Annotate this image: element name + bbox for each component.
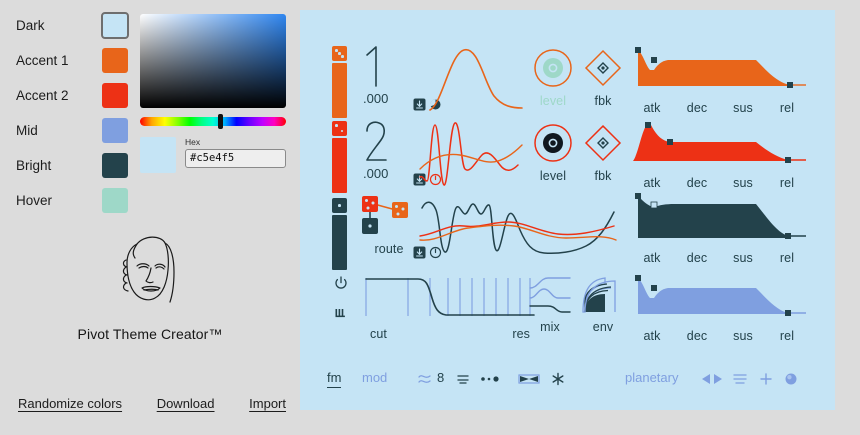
envelope-label-sus: sus <box>720 176 766 190</box>
swatch-label: Accent 1 <box>16 53 102 68</box>
envelope-label-dec: dec <box>674 101 720 115</box>
osc1-waveform[interactable] <box>428 44 524 116</box>
diamond-knob-icon[interactable] <box>583 123 623 163</box>
envelope-label-dec: dec <box>674 329 720 343</box>
route-waveform[interactable] <box>418 194 626 260</box>
footer-links: Randomize colors Download Import <box>18 396 286 411</box>
envelope-label-sus: sus <box>720 251 766 265</box>
mix-icon[interactable] <box>528 276 572 316</box>
envelope-label-rel: rel <box>766 176 808 190</box>
keyboard-icon[interactable] <box>334 306 348 320</box>
left-panel: Dark Accent 1 Accent 2 Mid Bright Hover <box>0 0 300 435</box>
swatch-label: Accent 2 <box>16 88 102 103</box>
envelope-label-atk: atk <box>630 176 674 190</box>
envelope-label-atk: atk <box>630 101 674 115</box>
download-link[interactable]: Download <box>157 396 215 411</box>
preset-name[interactable]: planetary <box>625 370 678 385</box>
filter-env-label: env <box>578 320 628 334</box>
osc2-level-knob[interactable]: level <box>528 123 578 183</box>
equals-icon[interactable] <box>455 372 471 386</box>
swatch-chip-dark[interactable] <box>102 13 128 38</box>
swatch-row-dark[interactable]: Dark <box>16 12 136 38</box>
bowtie-icon[interactable] <box>518 372 540 386</box>
osc2-envelope-labels: atk dec sus rel <box>630 176 810 190</box>
osc1-fbk-knob[interactable]: fbk <box>578 48 628 108</box>
palette-swatch-list: Dark Accent 1 Accent 2 Mid Bright Hover <box>16 12 136 222</box>
envelope-label-sus: sus <box>720 101 766 115</box>
randomize-colors-link[interactable]: Randomize colors <box>18 396 122 411</box>
osc1-level-label: level <box>528 94 578 108</box>
osc1-level-knob[interactable]: level <box>528 48 578 108</box>
osc1-fbk-label: fbk <box>578 94 628 108</box>
synth-panel: .000 level <box>300 10 835 410</box>
envelope-label-dec: dec <box>674 251 720 265</box>
hex-input[interactable]: #c5e4f5 <box>185 149 286 168</box>
route-envelope-graph[interactable] <box>630 192 808 244</box>
filter-toggles <box>334 276 348 320</box>
filter-label-cut: cut <box>370 327 387 341</box>
route-envelope[interactable]: atk dec sus rel <box>630 192 810 265</box>
color-preview-chip <box>140 137 176 173</box>
envelope-label-rel: rel <box>766 101 808 115</box>
osc2-fbk-knob[interactable]: fbk <box>578 123 628 183</box>
osc1-envelope-graph[interactable] <box>630 44 808 92</box>
swatch-label: Hover <box>16 193 102 208</box>
filter-response-graph[interactable]: cut res <box>360 274 540 341</box>
knob-icon[interactable] <box>533 123 573 163</box>
envelope-label-atk: atk <box>630 329 674 343</box>
swatch-chip-bright[interactable] <box>102 153 128 178</box>
wave-approx-icon[interactable] <box>417 372 433 386</box>
plus-icon[interactable] <box>758 372 774 386</box>
voices-count[interactable]: 8 <box>437 370 444 385</box>
dice-icon[interactable] <box>332 121 347 136</box>
env-fan-icon[interactable] <box>581 276 625 316</box>
knob-icon[interactable] <box>533 48 573 88</box>
osc2-ratio[interactable]: .000 <box>363 119 413 181</box>
synth-row-osc1: .000 level <box>300 40 835 120</box>
hex-label: Hex <box>185 137 286 147</box>
saturation-value-area[interactable] <box>140 14 286 108</box>
route-graph[interactable]: route <box>358 194 420 256</box>
power-icon[interactable] <box>334 276 348 290</box>
synth-row-route: route <box>300 192 835 272</box>
tab-fm[interactable]: fm <box>327 370 341 388</box>
envelope-label-rel: rel <box>766 251 808 265</box>
osc1-ratio-decimal: .000 <box>363 91 413 106</box>
osc2-waveform[interactable] <box>418 117 528 191</box>
swatch-row-bright[interactable]: Bright <box>16 152 136 178</box>
filter-curve[interactable] <box>360 274 538 320</box>
dots-icon[interactable] <box>480 374 500 384</box>
route-nodes-icon[interactable] <box>358 194 420 240</box>
route-level-slider[interactable] <box>332 198 347 270</box>
swatch-chip-mid[interactable] <box>102 118 128 143</box>
osc2-envelope-graph[interactable] <box>630 119 808 167</box>
brand-block: Pivot Theme Creator™ <box>0 230 300 342</box>
prev-next-arrows-icon[interactable] <box>700 372 724 386</box>
route-envelope-labels: atk dec sus rel <box>630 251 810 265</box>
import-link[interactable]: Import <box>249 396 286 411</box>
osc2-level-label: level <box>528 169 578 183</box>
hue-slider-handle[interactable] <box>218 114 223 129</box>
osc2-level-slider[interactable] <box>332 121 347 193</box>
swatch-label: Mid <box>16 123 102 138</box>
osc1-number-glyph <box>363 44 389 88</box>
filter-env[interactable]: env <box>578 276 628 334</box>
face-line-drawing-icon <box>111 230 189 320</box>
filter-envelope[interactable]: atk dec sus rel <box>630 272 810 343</box>
osc1-envelope-labels: atk dec sus rel <box>630 101 810 115</box>
color-picker: Hex #c5e4f5 <box>140 14 286 173</box>
envelope-label-rel: rel <box>766 329 808 343</box>
bottom-toolbar: fm mod 8 plane <box>300 362 835 402</box>
osc2-ratio-decimal: .000 <box>363 166 413 181</box>
picker-preview-row: Hex #c5e4f5 <box>140 137 286 173</box>
hue-slider[interactable] <box>140 117 286 126</box>
envelope-label-sus: sus <box>720 329 766 343</box>
route-label: route <box>358 242 420 256</box>
page-title: Pivot Theme Creator™ <box>0 326 300 342</box>
osc2-envelope[interactable]: atk dec sus rel <box>630 119 810 190</box>
list-menu-icon[interactable] <box>732 373 748 385</box>
osc1-ratio[interactable]: .000 <box>363 44 413 106</box>
synth-row-filter: cut res mix env <box>300 268 835 348</box>
filter-labels: cut res <box>360 327 540 341</box>
hex-field-wrap: Hex #c5e4f5 <box>185 137 286 173</box>
swatch-row-hover[interactable]: Hover <box>16 187 136 213</box>
swatch-label: Bright <box>16 158 102 173</box>
diamond-knob-icon[interactable] <box>583 48 623 88</box>
dice-icon[interactable] <box>332 198 347 213</box>
swatch-label: Dark <box>16 18 102 33</box>
swatch-chip-accent-2[interactable] <box>102 83 128 108</box>
osc2-number-glyph <box>363 119 391 163</box>
swatch-chip-hover[interactable] <box>102 188 128 213</box>
dice-icon[interactable] <box>332 46 347 61</box>
envelope-label-dec: dec <box>674 176 720 190</box>
osc2-fbk-label: fbk <box>578 169 628 183</box>
filter-mix-label: mix <box>525 320 575 334</box>
download-icon[interactable] <box>413 98 426 111</box>
envelope-label-atk: atk <box>630 251 674 265</box>
swatch-row-accent-2[interactable]: Accent 2 <box>16 82 136 108</box>
synth-row-osc2: .000 level <box>300 115 835 195</box>
scroll-gutter <box>835 10 860 410</box>
filter-envelope-labels: atk dec sus rel <box>630 329 810 343</box>
circle-filled-icon[interactable] <box>783 372 799 386</box>
osc1-level-slider[interactable] <box>332 46 347 118</box>
swatch-row-mid[interactable]: Mid <box>16 117 136 143</box>
swatch-chip-accent-1[interactable] <box>102 48 128 73</box>
swatch-row-accent-1[interactable]: Accent 1 <box>16 47 136 73</box>
filter-mix[interactable]: mix <box>525 276 575 334</box>
osc1-envelope[interactable]: atk dec sus rel <box>630 44 810 115</box>
asterisk-icon[interactable] <box>550 372 566 386</box>
filter-envelope-graph[interactable] <box>630 272 808 320</box>
tab-mod[interactable]: mod <box>362 370 387 385</box>
